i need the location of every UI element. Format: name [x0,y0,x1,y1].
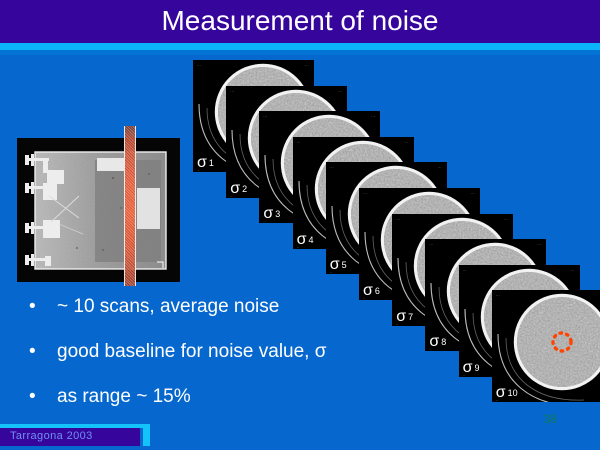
page-title: Measurement of noise [0,4,600,38]
slice-sigma-label: σ9 [463,360,480,376]
sigma-index: 3 [273,209,280,219]
slice-annotation-top-left: ... [263,113,267,118]
slice-sigma-label: σ2 [230,181,247,197]
slice-sigma-label: σ6 [363,283,380,299]
bullet-text: good baseline for noise value, σ [57,341,326,362]
slice-annotation-top-right: ... [504,216,508,221]
scout-image-graphic [17,138,180,282]
slice-annotation-top-right: ... [305,62,309,67]
bullet-marker-icon: • [29,386,36,408]
slice-annotation-top-right: ... [338,88,342,93]
slice-annotation-top-left: ... [496,292,500,297]
header-rule-cyan [0,43,600,50]
sigma-symbol: σ [496,384,506,401]
sigma-index: 4 [306,235,313,245]
bullet-text: ~ 10 scans, average noise [57,296,279,317]
sigma-symbol: σ [330,256,340,273]
sigma-symbol: σ [463,359,473,376]
list-item: • good baseline for noise value, σ [26,341,456,363]
bullet-text: as range ~ 15% [57,386,191,407]
slice-annotation-top-left: ... [197,62,201,67]
slide-canvas: Measurement of noise [0,0,600,450]
sigma-symbol: σ [429,333,439,350]
bullet-marker-icon: • [29,296,36,318]
phantom-scout-image [17,138,180,282]
slice-annotation-top-left: ... [297,139,301,144]
sigma-symbol: σ [263,205,273,222]
slice-sigma-label: σ4 [297,232,314,248]
slice-sigma-label: σ5 [330,257,347,273]
bullet-marker-icon: • [29,341,36,363]
sigma-symbol: σ [297,231,307,248]
slice-annotation-top-right: ... [471,190,475,195]
sigma-symbol: σ [363,282,373,299]
slice-annotation-top-left: ... [396,216,400,221]
sigma-symbol: σ [197,154,207,171]
sigma-index: 5 [340,260,347,270]
slice-annotation-top-left: ... [230,88,234,93]
slice-sigma-label: σ3 [263,206,280,222]
sigma-index: 8 [439,337,446,347]
scan-plane-stripe-marker [124,126,136,286]
sigma-symbol: σ [230,180,240,197]
sigma-index: 1 [207,158,214,168]
slice-annotation-top-right: ... [537,241,541,246]
ct-slice-10[interactable]: ........σ10 [492,290,600,402]
sigma-index: 9 [472,363,479,373]
slice-annotation-top-right: ... [404,139,408,144]
slice-annotation-top-left: ... [363,190,367,195]
header-rule-blue [0,50,600,55]
slice-sigma-label: σ7 [396,309,413,325]
slice-sigma-label: σ8 [429,334,446,350]
footer-accent-tab [143,424,150,446]
slice-sigma-label: σ10 [496,385,518,401]
footer-label: Tarragona 2003 [10,430,93,443]
sigma-symbol: σ [396,308,406,325]
sigma-index: 6 [373,286,380,296]
sigma-index: 2 [240,184,247,194]
slice-annotation-top-left: ... [463,267,467,272]
page-number: 38 [544,412,557,426]
slice-annotation-top-right: ... [570,267,574,272]
slice-sigma-label: σ1 [197,155,214,171]
slice-annotation-top-left: ... [330,164,334,169]
list-item: • as range ~ 15% [26,386,456,408]
slice-annotation-top-left: ... [429,241,433,246]
sigma-index: 10 [506,388,518,398]
sigma-index: 7 [406,312,413,322]
slice-annotation-top-right: ... [371,113,375,118]
slice-annotation-top-right: ... [438,164,442,169]
